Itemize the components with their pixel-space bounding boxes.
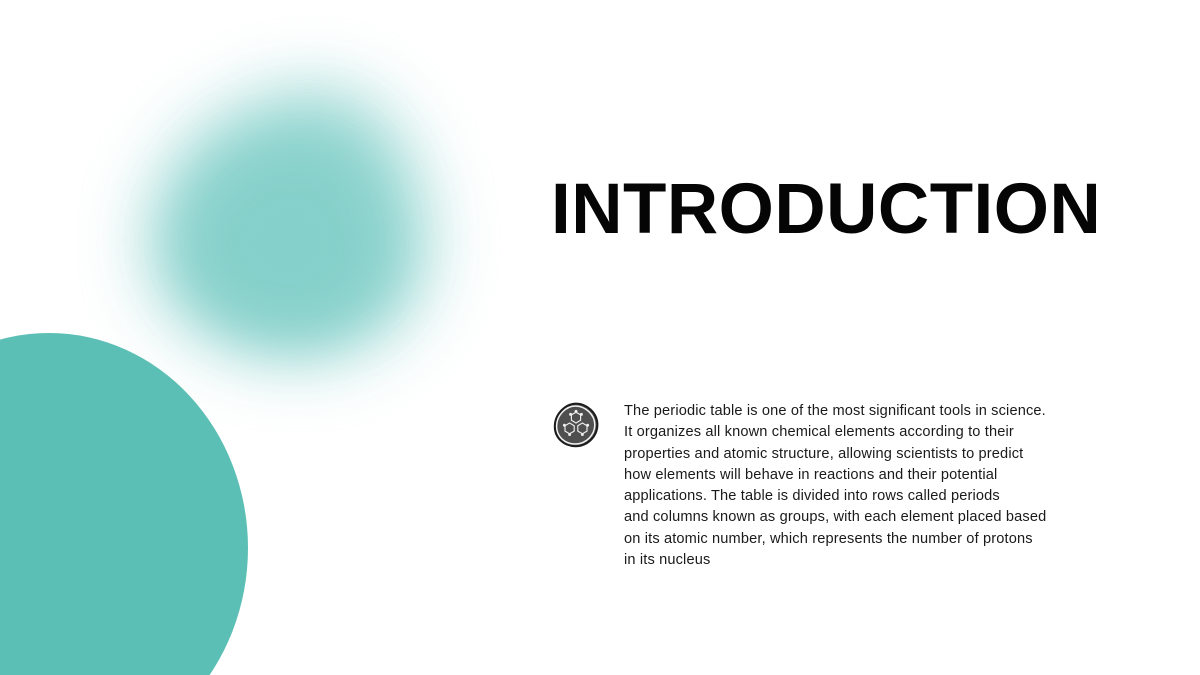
blurred-teal-blob-core [186,144,386,334]
paragraph-line: It organizes all known chemical elements… [624,422,1123,443]
paragraph-line: properties and atomic structure, allowin… [624,444,1123,465]
molecule-icon [553,402,599,448]
paragraph-line: how elements will behave in reactions an… [624,465,1123,486]
paragraph-line: applications. The table is divided into … [624,486,1123,507]
body-block: The periodic table is one of the most si… [553,401,1123,571]
intro-paragraph: The periodic table is one of the most si… [624,401,1123,571]
paragraph-line: The periodic table is one of the most si… [624,401,1123,422]
blurred-teal-blob [148,88,428,360]
slide-canvas: INTRODUCTION [0,0,1200,675]
paragraph-line: in its nucleus [624,550,1123,571]
blurred-teal-blob-shape [148,88,428,360]
page-title: INTRODUCTION [551,174,1101,245]
solid-teal-circle [0,333,248,675]
paragraph-line: and columns known as groups, with each e… [624,507,1123,528]
paragraph-line: on its atomic number, which represents t… [624,529,1123,550]
